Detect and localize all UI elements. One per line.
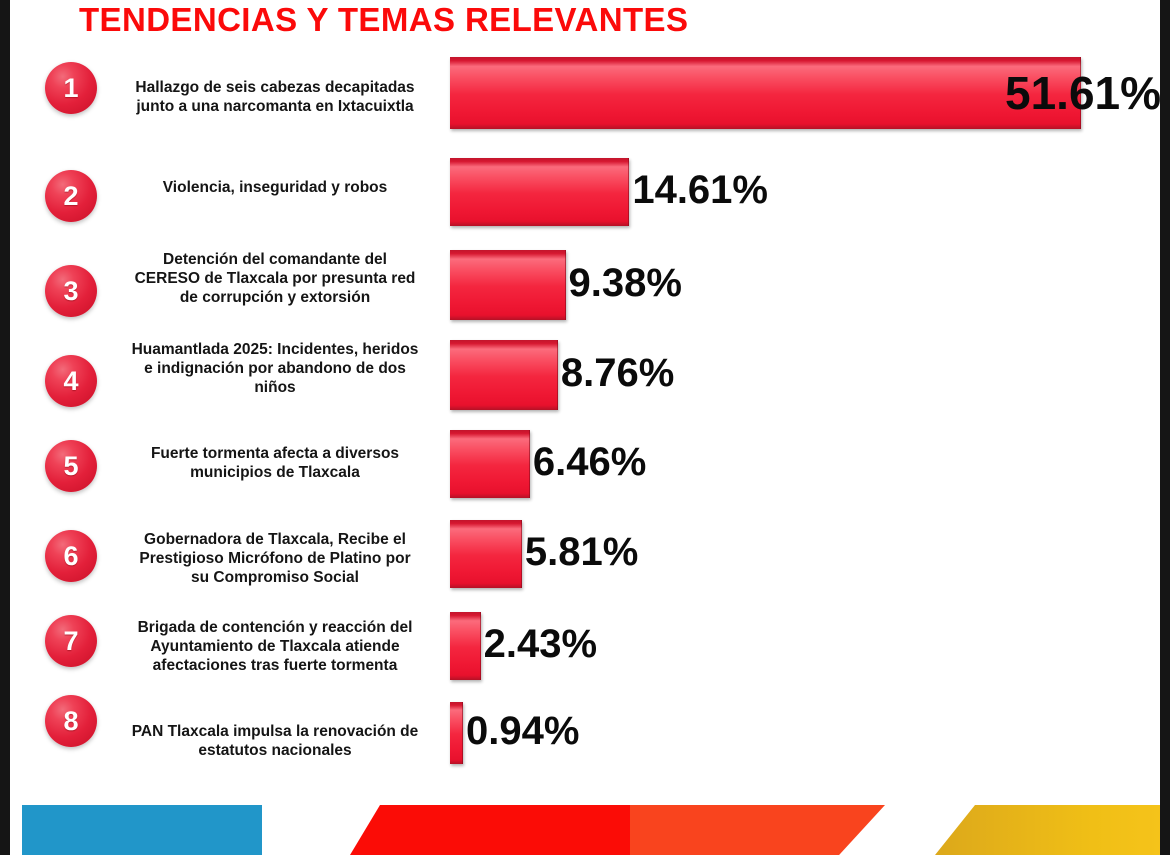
value-bar	[450, 612, 481, 680]
rank-badge-3: 3	[45, 265, 97, 317]
rank-badge-7: 7	[45, 615, 97, 667]
row-label: Hallazgo de seis cabezas decapitadasjunt…	[110, 78, 440, 116]
value-label: 2.43%	[484, 622, 597, 667]
value-label: 5.81%	[525, 530, 638, 575]
value-label: 9.38%	[569, 261, 682, 306]
row-label-line: e indignación por abandono de dos	[110, 359, 440, 378]
value-bar	[450, 520, 522, 588]
footer-shape-blue	[22, 805, 262, 855]
row-label-line: CERESO de Tlaxcala por presunta red	[110, 269, 440, 288]
row-label-line: Huamantlada 2025: Incidentes, heridos	[110, 340, 440, 359]
row-label-line: PAN Tlaxcala impulsa la renovación de	[110, 722, 440, 741]
value-label: 6.46%	[533, 440, 646, 485]
infographic-canvas: TENDENCIAS Y TEMAS RELEVANTES 1Hallazgo …	[10, 0, 1160, 855]
row-label-line: de corrupción y extorsión	[110, 288, 440, 307]
footer-shape-orange	[630, 805, 885, 855]
rank-badge-5: 5	[45, 440, 97, 492]
value-label: 51.61%	[1005, 66, 1160, 120]
row-label-line: junto a una narcomanta en Ixtacuixtla	[110, 97, 440, 116]
value-bar	[450, 702, 463, 764]
row-label-line: afectaciones tras fuerte tormenta	[110, 656, 440, 675]
footer-decoration-bar	[10, 805, 1160, 855]
value-bar	[450, 430, 530, 498]
value-label: 8.76%	[561, 351, 674, 396]
row-label: PAN Tlaxcala impulsa la renovación deest…	[110, 722, 440, 760]
row-label: Gobernadora de Tlaxcala, Recibe elPresti…	[110, 530, 440, 587]
rank-badge-8: 8	[45, 695, 97, 747]
footer-shape-red	[350, 805, 630, 855]
row-label-line: Fuerte tormenta afecta a diversos	[110, 444, 440, 463]
value-label: 0.94%	[466, 709, 579, 754]
row-label-line: Ayuntamiento de Tlaxcala atiende	[110, 637, 440, 656]
row-label-line: estatutos nacionales	[110, 741, 440, 760]
rank-badge-1: 1	[45, 62, 97, 114]
row-label-line: Prestigioso Micrófono de Platino por	[110, 549, 440, 568]
row-label-line: Violencia, inseguridad y robos	[110, 178, 440, 197]
row-label-line: Hallazgo de seis cabezas decapitadas	[110, 78, 440, 97]
row-label: Fuerte tormenta afecta a diversosmunicip…	[110, 444, 440, 482]
row-label: Brigada de contención y reacción delAyun…	[110, 618, 440, 675]
row-label-line: Gobernadora de Tlaxcala, Recibe el	[110, 530, 440, 549]
row-label: Violencia, inseguridad y robos	[110, 178, 440, 197]
value-bar	[450, 340, 558, 410]
rank-badge-4: 4	[45, 355, 97, 407]
value-bar	[450, 250, 566, 320]
row-label-line: niños	[110, 378, 440, 397]
value-label: 14.61%	[632, 168, 768, 213]
rank-badge-2: 2	[45, 170, 97, 222]
row-label-line: su Compromiso Social	[110, 568, 440, 587]
row-label-line: Brigada de contención y reacción del	[110, 618, 440, 637]
row-label-line: municipios de Tlaxcala	[110, 463, 440, 482]
value-bar	[450, 57, 1081, 129]
row-label: Detención del comandante delCERESO de Tl…	[110, 250, 440, 307]
value-bar	[450, 158, 629, 226]
row-label: Huamantlada 2025: Incidentes, heridose i…	[110, 340, 440, 397]
row-label-line: Detención del comandante del	[110, 250, 440, 269]
footer-shape-yellow	[935, 805, 1160, 855]
rank-badge-6: 6	[45, 530, 97, 582]
page-title: TENDENCIAS Y TEMAS RELEVANTES	[79, 1, 819, 39]
